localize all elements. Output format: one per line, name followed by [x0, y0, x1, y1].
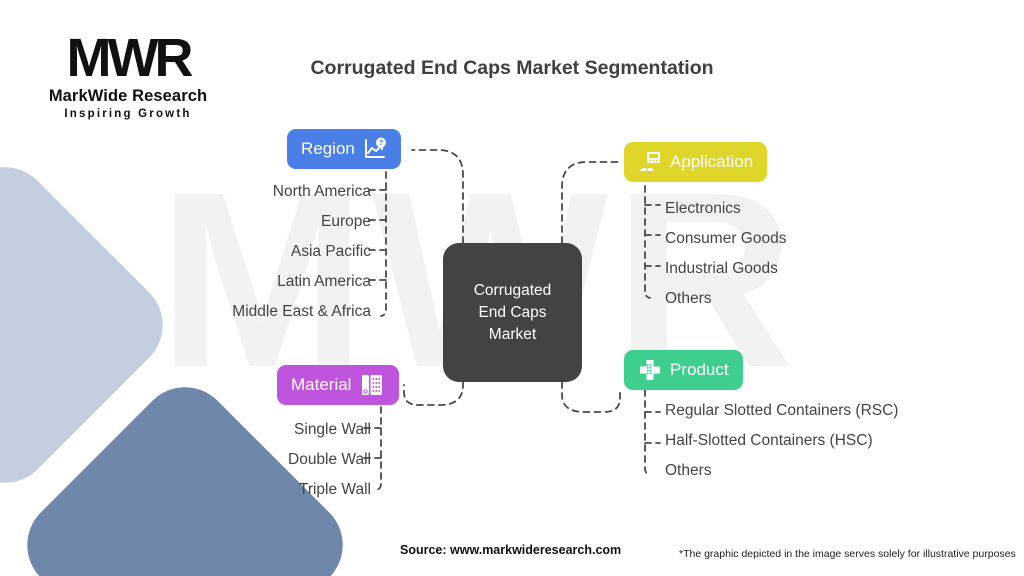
page-title: Corrugated End Caps Market Segmentation [0, 57, 1024, 80]
wire-product [562, 382, 620, 412]
wire-region [412, 150, 463, 243]
wire-application [562, 162, 620, 243]
list-item: Asia Pacific [232, 237, 371, 267]
source-text: Source: www.markwideresearch.com [400, 543, 621, 557]
category-badge-application[interactable]: Application [624, 142, 767, 182]
list-item: Double Wall [288, 445, 371, 475]
items-list-product: Regular Slotted Containers (RSC) Half-Sl… [665, 396, 898, 486]
center-node[interactable]: Corrugated End Caps Market [443, 243, 582, 382]
wire-region-spine [381, 150, 386, 316]
category-label-material: Material [291, 375, 351, 395]
items-list-application: Electronics Consumer Goods Industrial Go… [665, 194, 786, 314]
list-item: Latin America [232, 267, 371, 297]
category-badge-material[interactable]: Material [277, 365, 399, 405]
list-item: Electronics [665, 194, 786, 224]
list-item: Others [665, 284, 786, 314]
category-badge-region[interactable]: Region ? [287, 129, 401, 169]
category-label-product: Product [670, 360, 729, 380]
disclaimer-text: *The graphic depicted in the image serve… [679, 548, 1016, 560]
category-label-application: Application [670, 152, 753, 172]
category-label-region: Region [301, 139, 355, 159]
list-item: Regular Slotted Containers (RSC) [665, 396, 898, 426]
list-item: Others [665, 456, 898, 486]
svg-text:?: ? [379, 138, 384, 147]
cross-grid-icon [638, 358, 662, 382]
logo-tagline: Inspiring Growth [28, 106, 228, 122]
items-list-region: North America Europe Asia Pacific Latin … [232, 177, 371, 327]
center-node-label: Corrugated End Caps Market [474, 280, 552, 346]
wire-product-spine [645, 390, 650, 475]
list-item: Middle East & Africa [232, 297, 371, 327]
list-item: Europe [232, 207, 371, 237]
logo-company-name: MarkWide Research [28, 86, 228, 106]
keypad-icon [359, 372, 385, 398]
items-list-material: Single Wall Double Wall Triple Wall [288, 415, 371, 505]
list-item: Industrial Goods [665, 254, 786, 284]
wire-material [404, 382, 463, 405]
list-item: Triple Wall [288, 475, 371, 505]
list-item: Single Wall [288, 415, 371, 445]
list-item: Half-Slotted Containers (HSC) [665, 426, 898, 456]
category-badge-product[interactable]: Product [624, 350, 743, 390]
list-item: North America [232, 177, 371, 207]
chart-device-icon [638, 150, 662, 174]
analytics-question-icon: ? [363, 137, 387, 161]
wire-application-spine [645, 175, 650, 298]
list-item: Consumer Goods [665, 224, 786, 254]
